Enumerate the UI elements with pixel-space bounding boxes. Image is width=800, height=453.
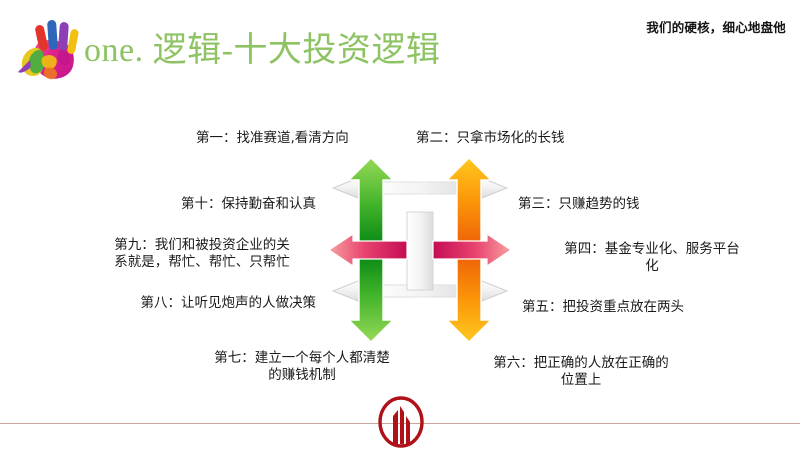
arrow-cluster	[327, 150, 513, 350]
label-item-10: 第十：保持勤奋和认真	[88, 196, 316, 213]
label-item-3: 第三：只赚趋势的钱	[518, 196, 640, 213]
arrow-up-orange	[447, 158, 491, 242]
label-item-9: 第九：我们和被投资企业的关 系就是，帮忙、帮忙、只帮忙	[88, 237, 316, 271]
label-item-8: 第八：让听见炮声的人做决策	[88, 295, 316, 312]
label-item-5: 第五：把投资重点放在两头	[522, 299, 684, 316]
label-item-6: 第六：把正确的人放在正确的 位置上	[452, 355, 710, 389]
label-item-4: 第四：基金专业化、服务平台 化	[524, 241, 780, 275]
label-item-2: 第二：只拿市场化的长钱	[416, 130, 565, 147]
four-direction-arrow-diagram: 第一：找准赛道,看清方向 第二：只拿市场化的长钱 第十：保持勤奋和认真 第九：我…	[0, 0, 800, 450]
label-item-1: 第一：找准赛道,看清方向	[196, 130, 349, 147]
label-item-7: 第七：建立一个每个人都清楚 的赚钱机制	[186, 350, 418, 384]
arrow-up-green	[349, 158, 393, 242]
red-circular-building-logo	[376, 396, 426, 448]
